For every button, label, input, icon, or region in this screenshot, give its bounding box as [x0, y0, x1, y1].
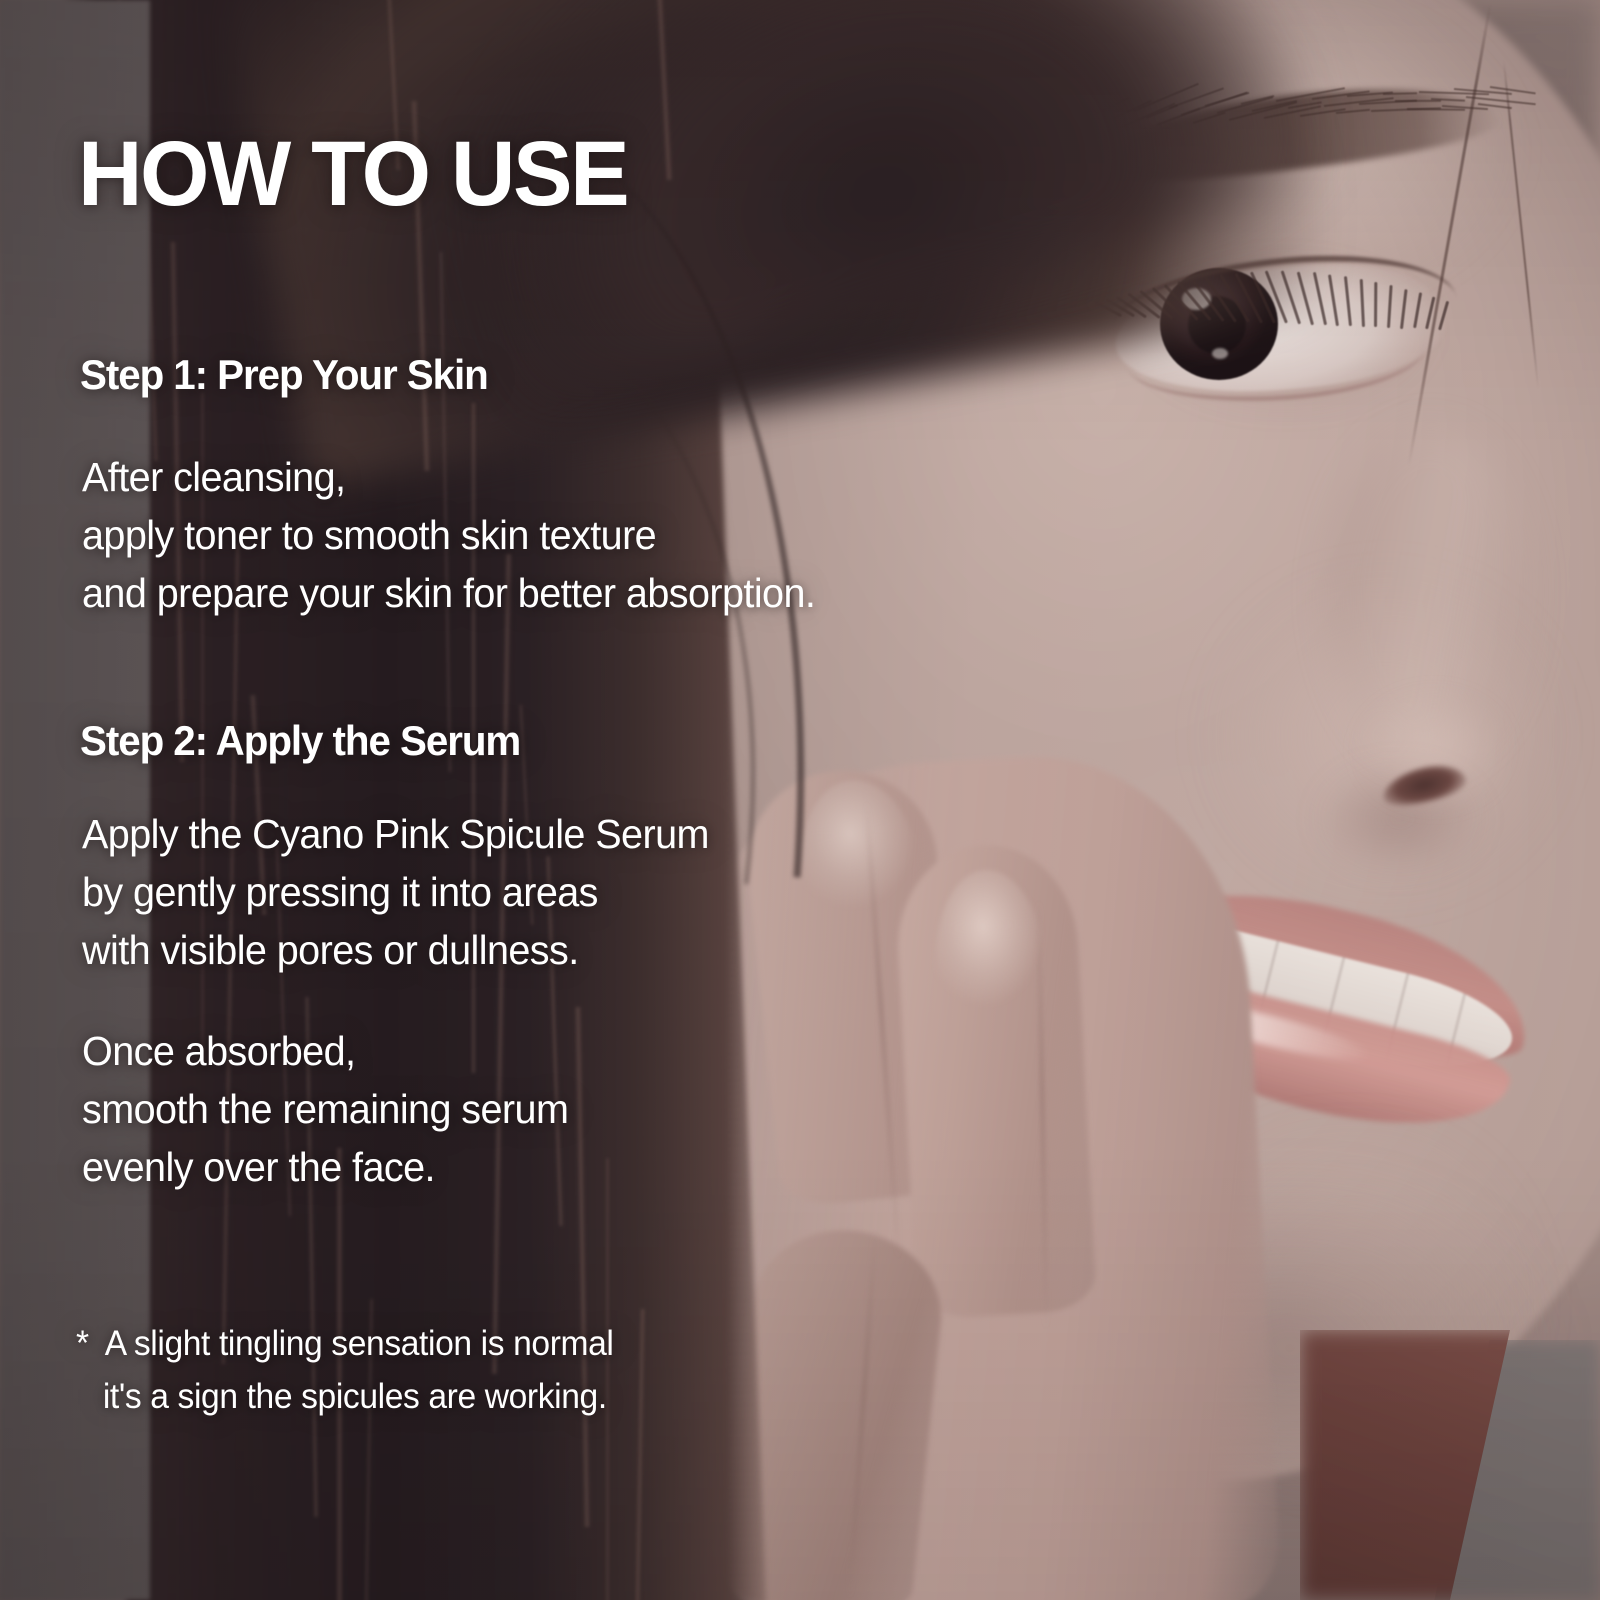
step-2-paragraph-1: Apply the Cyano Pink Spicule Serum by ge…	[82, 805, 709, 980]
text-overlay: HOW TO USE Step 1: Prep Your Skin After …	[0, 0, 1600, 1600]
step-2-paragraph-2: Once absorbed, smooth the remaining seru…	[82, 1022, 568, 1197]
footnote: * A slight tingling sensation is normal …	[76, 1318, 613, 1423]
step-1-paragraph: After cleansing, apply toner to smooth s…	[82, 448, 815, 623]
step-1-heading: Step 1: Prep Your Skin	[80, 352, 488, 398]
step-2-heading: Step 2: Apply the Serum	[80, 718, 520, 764]
page-title: HOW TO USE	[78, 128, 627, 220]
how-to-use-promo-image: HOW TO USE Step 1: Prep Your Skin After …	[0, 0, 1600, 1600]
